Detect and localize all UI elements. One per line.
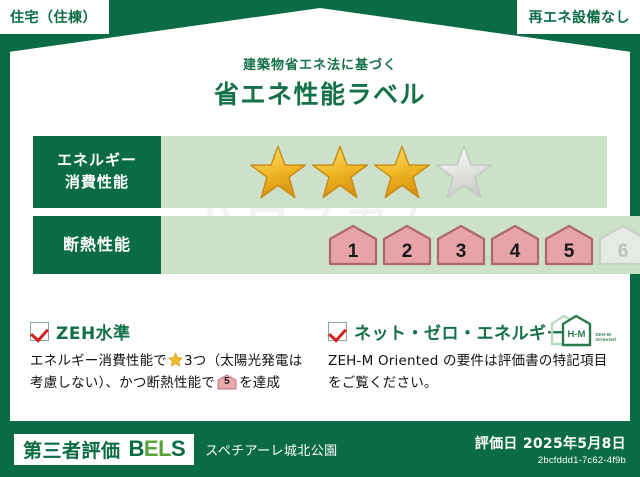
note-zeh-text-part3: を達成 xyxy=(239,375,280,391)
bels-logo-en: BELS xyxy=(129,436,186,462)
row-insulation-performance: 断熱性能 1234567 xyxy=(33,216,607,274)
zeh-house-icon: H-M xyxy=(550,314,594,348)
title-main: 省エネ性能ラベル xyxy=(0,80,640,110)
note-net-zero-body: ZEH-M Oriented の要件は評価書の特記項目をご覧ください。 xyxy=(328,351,612,395)
star-filled-icon xyxy=(249,144,307,200)
footer: 第三者評価 BELS スペチアーレ城北公園 評価日 2025年5月8日 2bcf… xyxy=(0,421,640,477)
row-insulation-label-text: 断熱性能 xyxy=(63,233,131,256)
grade-house-filled: 2 xyxy=(381,223,433,267)
note-zeh-standard-header: ZEH水準 xyxy=(30,318,314,344)
notes-section: ZEH水準 エネルギー消費性能で 3つ（太陽光発電は考慮しない）、かつ断熱性能で… xyxy=(30,318,612,395)
inline-grade-number: 5 xyxy=(217,374,237,390)
grade-house-empty: 6 xyxy=(597,223,640,267)
badge-building-type-label: 住宅（住棟） xyxy=(10,7,97,27)
grade-number: 6 xyxy=(597,241,640,263)
note-zeh-standard: ZEH水準 エネルギー消費性能で 3つ（太陽光発電は考慮しない）、かつ断熱性能で… xyxy=(30,318,314,395)
evaluation-id: 2bcfddd1-7c62-4f9b xyxy=(475,455,626,466)
star-rating xyxy=(161,144,493,200)
svg-text:H-M: H-M xyxy=(567,329,585,340)
zeh-logo-caption: ZEH-M Oriented xyxy=(596,332,617,348)
bels-logo: 第三者評価 BELS xyxy=(14,434,194,465)
inline-grade-house-icon: 5 xyxy=(217,374,237,390)
grade-number: 3 xyxy=(435,241,487,263)
note-net-zero-energy: ネット・ゼロ・エネルギー H-M ZEH-M Oriented ZEH-M Or… xyxy=(328,318,612,395)
row-insulation-label: 断熱性能 xyxy=(33,216,161,274)
grade-number: 4 xyxy=(489,241,541,263)
row-energy-body xyxy=(161,136,607,208)
grade-house-filled: 5 xyxy=(543,223,595,267)
grade-house-filled: 1 xyxy=(327,223,379,267)
grade-number: 5 xyxy=(543,241,595,263)
badge-renewable-energy-label: 再エネ設備なし xyxy=(529,7,631,27)
insulation-grade-scale: 1234567 xyxy=(161,223,640,267)
note-net-zero-title: ネット・ゼロ・エネルギー xyxy=(354,319,564,344)
note-zeh-text-part1: エネルギー消費性能で xyxy=(30,353,167,369)
star-empty-icon xyxy=(435,144,493,200)
evaluation-date: 評価日 2025年5月8日 xyxy=(475,433,626,453)
grade-house-filled: 3 xyxy=(435,223,487,267)
row-energy-performance: エネルギー 消費性能 xyxy=(33,136,607,208)
footer-evaluation-info: 評価日 2025年5月8日 2bcfddd1-7c62-4f9b xyxy=(475,433,626,466)
checkmark-icon xyxy=(328,322,347,341)
star-filled-icon xyxy=(373,144,431,200)
grade-number: 2 xyxy=(381,241,433,263)
zeh-m-oriented-logo: H-M ZEH-M Oriented xyxy=(550,314,617,348)
bels-logo-jp: 第三者評価 xyxy=(23,436,121,463)
row-energy-label-line1: エネルギー xyxy=(57,150,137,172)
building-name: スペチアーレ城北公園 xyxy=(205,440,337,459)
grade-house-filled: 4 xyxy=(489,223,541,267)
badge-renewable-energy: 再エネ設備なし xyxy=(517,0,640,34)
bels-letter-s: S xyxy=(171,436,185,461)
badge-building-type: 住宅（住棟） xyxy=(0,0,109,34)
title-subtitle: 建築物省エネ法に基づく xyxy=(0,58,640,74)
zeh-logo-caption-line2: Oriented xyxy=(596,337,617,343)
rating-rows: エネルギー 消費性能 断熱性能 1234567 xyxy=(33,136,607,274)
inline-star-icon xyxy=(168,352,183,367)
bels-letter-b: B xyxy=(129,436,144,461)
row-energy-label: エネルギー 消費性能 xyxy=(33,136,161,208)
grade-number: 1 xyxy=(327,241,379,263)
row-energy-label-line2: 消費性能 xyxy=(65,172,129,194)
bels-letter-el: EL xyxy=(144,436,171,461)
note-zeh-standard-body: エネルギー消費性能で 3つ（太陽光発電は考慮しない）、かつ断熱性能で 5 を達成 xyxy=(30,351,314,395)
checkmark-icon xyxy=(30,322,49,341)
page-title: 建築物省エネ法に基づく 省エネ性能ラベル xyxy=(0,58,640,110)
row-insulation-body: 1234567 xyxy=(161,216,640,274)
note-zeh-standard-title: ZEH水準 xyxy=(56,319,131,344)
star-filled-icon xyxy=(311,144,369,200)
